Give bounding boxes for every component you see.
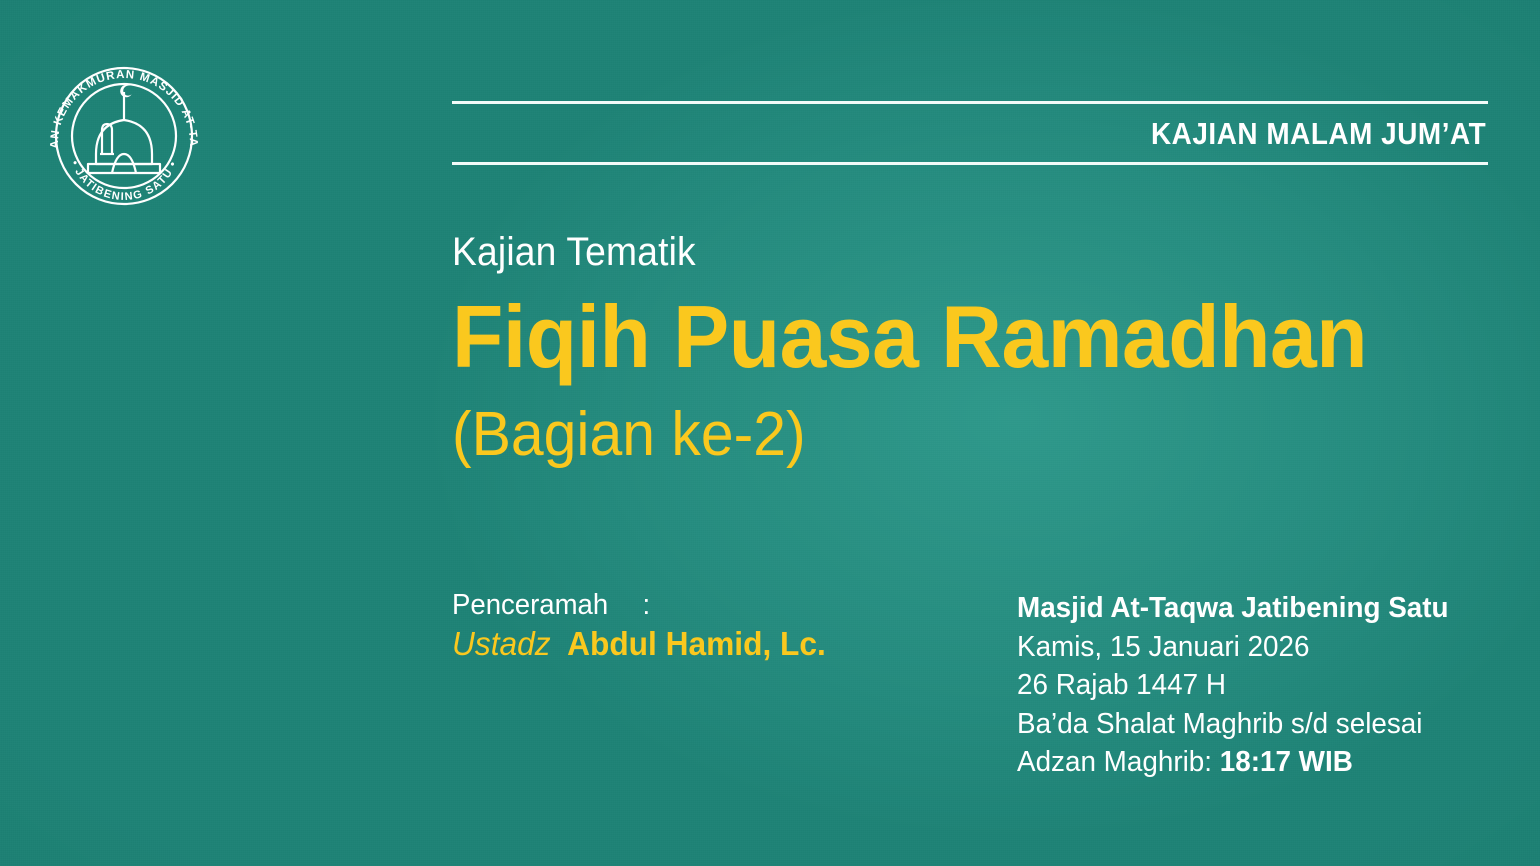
time-note: Ba’da Shalat Maghrib s/d selesai (1017, 705, 1449, 744)
header-band: KAJIAN MALAM JUM’AT (452, 101, 1488, 165)
header-rule-bottom (452, 162, 1488, 165)
speaker-label-row: Penceramah : (452, 588, 822, 623)
poster-canvas: DEWAN KEMAKMURAN MASJID AT-TAQWA • JATIB… (0, 0, 1540, 866)
event-info-block: Masjid At-Taqwa Jatibening Satu Kamis, 1… (1017, 589, 1467, 782)
adzan-time: 18:17 WIB (1220, 746, 1353, 778)
adzan-row: Adzan Maghrib: 18:17 WIB (1017, 743, 1449, 782)
speaker-name: Abdul Hamid, Lc. (559, 625, 825, 662)
date-gregorian: Kamis, 15 Januari 2026 (1017, 628, 1449, 667)
logo-arc-text-bottom: • JATIBENING SATU • (68, 159, 180, 203)
masjid-at-taqwa-logo: DEWAN KEMAKMURAN MASJID AT-TAQWA • JATIB… (38, 62, 210, 210)
speaker-honorific: Ustadz (452, 625, 551, 662)
venue-name: Masjid At-Taqwa Jatibening Satu (1017, 589, 1449, 628)
speaker-name-row: Ustadz Abdul Hamid, Lc. (452, 623, 826, 666)
poster-title: Fiqih Puasa Ramadhan (452, 293, 1367, 381)
adzan-label: Adzan Maghrib: (1017, 746, 1212, 778)
header-label: KAJIAN MALAM JUM’AT (556, 104, 1488, 162)
date-hijri: 26 Rajab 1447 H (1017, 666, 1449, 705)
speaker-label: Penceramah (452, 589, 608, 621)
poster-subtitle: (Bagian ke-2) (452, 404, 806, 466)
speaker-block: Penceramah : Ustadz Abdul Hamid, Lc. (452, 588, 841, 666)
mosque-dome-icon (88, 85, 160, 173)
speaker-colon: : (616, 589, 650, 621)
kajian-category-label: Kajian Tematik (452, 232, 696, 272)
